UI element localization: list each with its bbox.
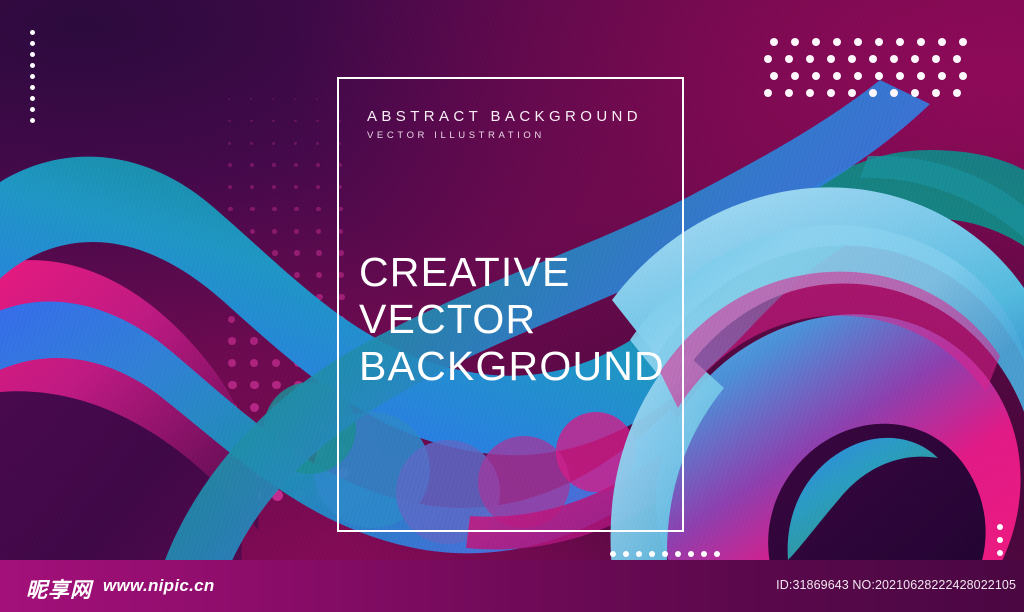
decor-dot <box>896 72 904 80</box>
decor-dot <box>890 89 898 97</box>
decor-dot <box>764 89 772 97</box>
decor-dot <box>30 30 35 35</box>
dot-grid-row <box>770 72 967 80</box>
decor-dot <box>30 118 35 123</box>
decor-dot <box>806 55 814 63</box>
decor-dot <box>917 38 925 46</box>
decor-dot <box>675 551 681 557</box>
decor-dot <box>785 89 793 97</box>
decor-dot <box>932 89 940 97</box>
decor-dot <box>917 72 925 80</box>
decor-dot <box>714 551 720 557</box>
decor-dot <box>953 89 961 97</box>
decor-dot <box>848 89 856 97</box>
decor-dot <box>959 72 967 80</box>
decor-dot <box>997 537 1003 543</box>
decor-dot <box>896 38 904 46</box>
decor-dot <box>770 38 778 46</box>
decor-dot <box>890 55 898 63</box>
decor-dot <box>791 72 799 80</box>
decor-dot <box>30 63 35 68</box>
eyebrow-text: ABSTRACT BACKGROUND VECTOR ILLUSTRATION <box>367 108 642 143</box>
dot-grid-row <box>764 55 967 63</box>
decor-dot <box>953 55 961 63</box>
decor-dot <box>869 89 877 97</box>
decor-dot <box>959 38 967 46</box>
decor-dot <box>938 38 946 46</box>
decor-dot <box>812 38 820 46</box>
bottom-dot-row <box>610 551 720 557</box>
decor-dot <box>30 41 35 46</box>
decor-dot <box>610 551 616 557</box>
decor-dot <box>770 72 778 80</box>
page-title: CREATIVE VECTOR BACKGROUND <box>359 249 665 390</box>
decor-dot <box>812 72 820 80</box>
poster-canvas: ABSTRACT BACKGROUND VECTOR ILLUSTRATION … <box>0 0 1024 612</box>
dot-grid-row <box>764 89 967 97</box>
decor-dot <box>701 551 707 557</box>
nipic-url: www.nipic.cn <box>103 576 215 596</box>
decor-dot <box>911 89 919 97</box>
decor-dot <box>869 55 877 63</box>
top-right-dot-grid <box>770 38 967 97</box>
eyebrow-line-2: VECTOR ILLUSTRATION <box>367 129 642 143</box>
decor-dot <box>785 55 793 63</box>
decor-dot <box>649 551 655 557</box>
decor-dot <box>623 551 629 557</box>
decor-dot <box>662 551 668 557</box>
decor-dot <box>833 72 841 80</box>
decor-dot <box>833 38 841 46</box>
dot-grid-row <box>770 38 967 46</box>
decor-dot <box>911 55 919 63</box>
decor-dot <box>30 96 35 101</box>
top-left-dot-column <box>30 30 35 123</box>
decor-dot <box>854 72 862 80</box>
image-id-text: ID:31869643 NO:20210628222428022105 <box>776 578 1016 592</box>
decor-dot <box>764 55 772 63</box>
decor-dot <box>806 89 814 97</box>
eyebrow-line-1: ABSTRACT BACKGROUND <box>367 108 642 126</box>
decor-dot <box>791 38 799 46</box>
decor-dot <box>30 85 35 90</box>
decor-dot <box>636 551 642 557</box>
decor-dot <box>827 55 835 63</box>
watermark-bar: 昵享网 www.nipic.cn ID:31869643 NO:20210628… <box>0 560 1024 612</box>
decor-dot <box>30 52 35 57</box>
decor-dot <box>932 55 940 63</box>
headline-line-2: VECTOR <box>359 296 665 343</box>
decor-dot <box>997 524 1003 530</box>
nipic-logo: 昵享网 <box>26 574 92 604</box>
decor-dot <box>875 38 883 46</box>
decor-dot <box>688 551 694 557</box>
decor-dot <box>848 55 856 63</box>
headline-line-1: CREATIVE <box>359 249 665 296</box>
decor-dot <box>854 38 862 46</box>
decor-dot <box>997 550 1003 556</box>
decor-dot <box>875 72 883 80</box>
decor-dot <box>30 107 35 112</box>
decor-dot <box>30 74 35 79</box>
decor-dot <box>827 89 835 97</box>
decor-dot <box>938 72 946 80</box>
headline-line-3: BACKGROUND <box>359 343 665 390</box>
